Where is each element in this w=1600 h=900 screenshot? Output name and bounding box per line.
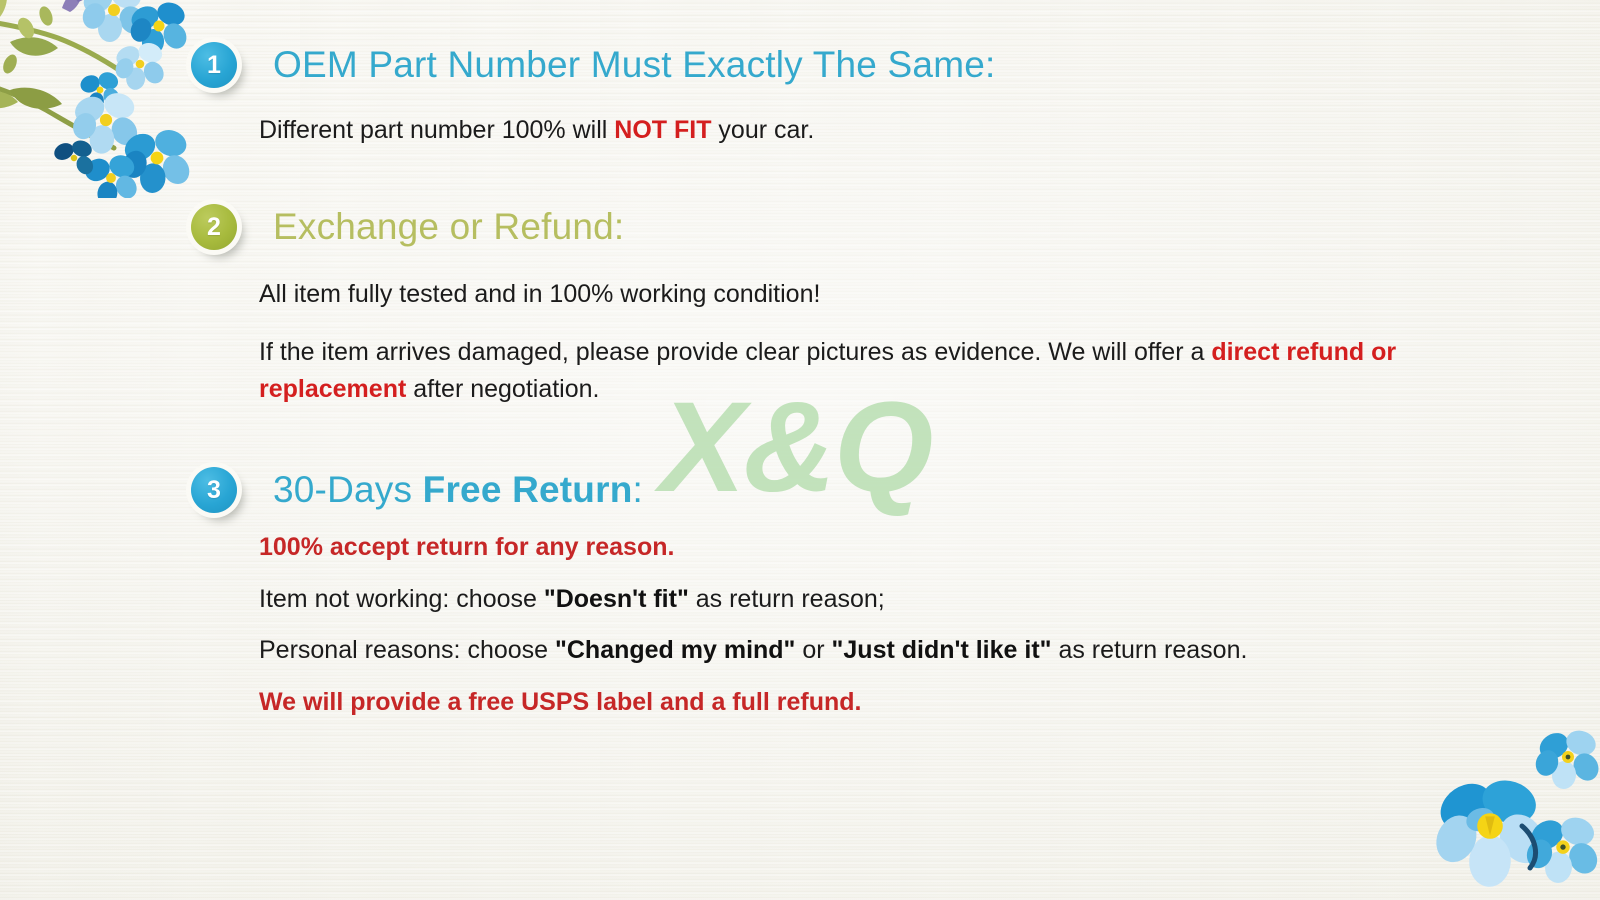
text-plain: All item fully tested and in 100% workin… xyxy=(259,280,820,308)
section-3-badge: 3 xyxy=(191,467,237,513)
policy-section-2: 2 Exchange or Refund: All item fully tes… xyxy=(0,196,1600,408)
heading-part-free-return: Free Return xyxy=(423,469,633,510)
section-2-header: 2 Exchange or Refund: xyxy=(0,196,1600,258)
policy-content: 1 OEM Part Number Must Exactly The Same:… xyxy=(0,0,1600,900)
section-3-line-2: Item not working: choose "Doesn't fit" a… xyxy=(0,585,1600,615)
section-2-heading: Exchange or Refund: xyxy=(190,208,624,247)
text-emphasis-not-fit: NOT FIT xyxy=(614,116,711,144)
section-1-header: 1 OEM Part Number Must Exactly The Same: xyxy=(0,34,1600,96)
text-plain: Item not working: choose xyxy=(259,585,544,613)
text-option-doesnt-fit: "Doesn't fit" xyxy=(544,585,689,613)
text-plain: your car. xyxy=(711,116,814,144)
policy-section-3: 3 30-Days Free Return: 100% accept retur… xyxy=(0,459,1600,717)
text-plain: as return reason. xyxy=(1052,636,1248,664)
text-emphasis-usps-label: We will provide a free USPS label and a … xyxy=(259,688,861,716)
section-3-header: 3 30-Days Free Return: xyxy=(0,459,1600,521)
text-plain: or xyxy=(795,636,831,664)
text-plain: Personal reasons: choose xyxy=(259,636,555,664)
text-plain: Different part number 100% will xyxy=(259,116,614,144)
text-plain: If the item arrives damaged, please prov… xyxy=(259,338,1211,366)
section-2-line-1: All item fully tested and in 100% workin… xyxy=(0,280,1600,310)
text-option-just-didnt-like-it: "Just didn't like it" xyxy=(832,636,1052,664)
policy-banner: X&Q 1 OEM Part Number Must Exactly The S… xyxy=(0,0,1600,900)
text-plain: after negotiation. xyxy=(406,375,599,403)
section-3-line-3: Personal reasons: choose "Changed my min… xyxy=(0,636,1600,666)
section-1-badge: 1 xyxy=(191,42,237,88)
section-1-line-1: Different part number 100% will NOT FIT … xyxy=(0,116,1600,146)
section-3-line-1: 100% accept return for any reason. xyxy=(0,533,1600,563)
text-option-changed-my-mind: "Changed my mind" xyxy=(555,636,795,664)
policy-section-1: 1 OEM Part Number Must Exactly The Same:… xyxy=(0,34,1600,146)
section-3-heading: 30-Days Free Return: xyxy=(190,471,643,510)
text-plain: as return reason; xyxy=(689,585,885,613)
section-2-line-2: If the item arrives damaged, please prov… xyxy=(0,334,1409,408)
text-emphasis-accept-return: 100% accept return for any reason. xyxy=(259,533,674,561)
heading-part-days: 30-Days xyxy=(273,469,423,510)
section-2-badge: 2 xyxy=(191,204,237,250)
section-3-line-4: We will provide a free USPS label and a … xyxy=(0,688,1600,718)
section-1-heading: OEM Part Number Must Exactly The Same: xyxy=(190,46,995,85)
heading-part-colon: : xyxy=(633,469,643,510)
